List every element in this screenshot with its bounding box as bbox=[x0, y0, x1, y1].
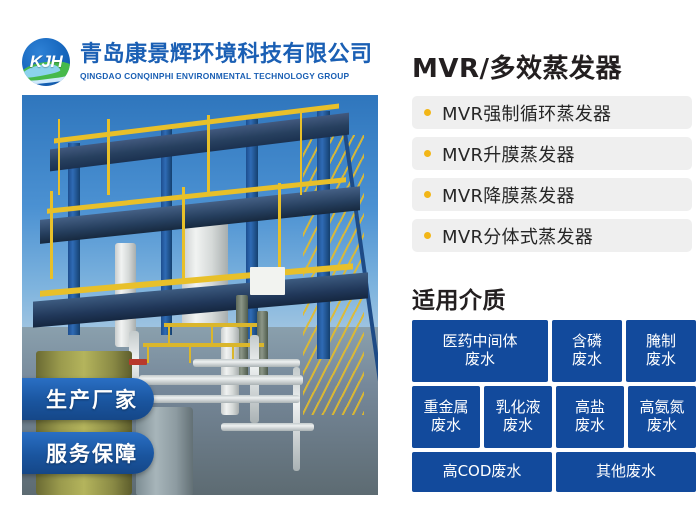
badge-service: 服务保障 bbox=[22, 432, 154, 474]
photo-railing bbox=[143, 343, 264, 347]
bullet-icon bbox=[424, 109, 431, 116]
badge-manufacturer: 生产厂家 bbox=[22, 378, 154, 420]
photo-pipe bbox=[221, 423, 314, 431]
feature-label: MVR强制循环蒸发器 bbox=[442, 100, 611, 126]
feature-item[interactable]: MVR降膜蒸发器 bbox=[412, 178, 692, 211]
company-name-en: QINGDAO CONQINPHI ENVIRONMENTAL TECHNOLO… bbox=[80, 71, 373, 81]
media-cell[interactable]: 医药中间体废水 bbox=[412, 320, 548, 382]
bullet-icon bbox=[424, 232, 431, 239]
feature-item[interactable]: MVR升膜蒸发器 bbox=[412, 137, 692, 170]
photo-rail-post bbox=[278, 183, 280, 279]
badge-service-label: 服务保障 bbox=[46, 438, 138, 468]
promo-banner: KJH 青岛康景辉环境科技有限公司 QINGDAO CONQINPHI ENVI… bbox=[0, 0, 700, 520]
media-row: 高COD废水 其他废水 bbox=[412, 452, 696, 492]
feature-item[interactable]: MVR强制循环蒸发器 bbox=[412, 96, 692, 129]
photo-red-marker bbox=[129, 359, 147, 365]
photo-rail-post bbox=[207, 115, 209, 195]
product-title: MVR/多效蒸发器 bbox=[412, 48, 622, 85]
media-cell[interactable]: 腌制废水 bbox=[626, 320, 696, 382]
feature-label: MVR降膜蒸发器 bbox=[442, 182, 575, 208]
photo-rail-post bbox=[107, 119, 109, 195]
photo-rail-post bbox=[300, 111, 302, 195]
media-cell[interactable]: 含磷废水 bbox=[552, 320, 622, 382]
right-column: MVR/多效蒸发器 MVR强制循环蒸发器 MVR升膜蒸发器 MVR降膜蒸发器 M… bbox=[404, 0, 700, 520]
bullet-icon bbox=[424, 150, 431, 157]
company-brand: KJH 青岛康景辉环境科技有限公司 QINGDAO CONQINPHI ENVI… bbox=[22, 36, 382, 88]
media-cell[interactable]: 乳化液废水 bbox=[484, 386, 552, 448]
media-cell[interactable]: 高盐废水 bbox=[556, 386, 624, 448]
logo-monogram: KJH bbox=[22, 38, 70, 86]
applicable-media-grid: 医药中间体废水 含磷废水 腌制废水 重金属废水 乳化液废水 高盐废水 高氨氮废水… bbox=[412, 320, 696, 496]
media-cell[interactable]: 高氨氮废水 bbox=[628, 386, 696, 448]
photo-signboard bbox=[250, 267, 286, 295]
feature-item[interactable]: MVR分体式蒸发器 bbox=[412, 219, 692, 252]
media-row: 医药中间体废水 含磷废水 腌制废水 bbox=[412, 320, 696, 382]
media-cell[interactable]: 其他废水 bbox=[556, 452, 696, 492]
product-feature-list: MVR强制循环蒸发器 MVR升膜蒸发器 MVR降膜蒸发器 MVR分体式蒸发器 bbox=[412, 96, 692, 260]
photo-rail-post bbox=[50, 191, 52, 279]
photo-pipe bbox=[193, 359, 300, 367]
media-row: 重金属废水 乳化液废水 高盐废水 高氨氮废水 bbox=[412, 386, 696, 448]
product-photo: 生产厂家 服务保障 bbox=[22, 95, 378, 495]
photo-rail-post bbox=[168, 323, 170, 343]
photo-rail-post bbox=[182, 187, 184, 279]
photo-rail-post bbox=[211, 323, 213, 343]
photo-rail-post bbox=[58, 119, 60, 195]
feature-label: MVR分体式蒸发器 bbox=[442, 223, 593, 249]
photo-pipe bbox=[139, 375, 303, 385]
badge-manufacturer-label: 生产厂家 bbox=[46, 384, 138, 414]
bullet-icon bbox=[424, 191, 431, 198]
company-name-cn: 青岛康景辉环境科技有限公司 bbox=[80, 43, 373, 68]
media-cell[interactable]: 重金属废水 bbox=[412, 386, 480, 448]
left-column: KJH 青岛康景辉环境科技有限公司 QINGDAO CONQINPHI ENVI… bbox=[0, 0, 396, 520]
feature-label: MVR升膜蒸发器 bbox=[442, 141, 575, 167]
media-cell[interactable]: 高COD废水 bbox=[412, 452, 552, 492]
company-logo-icon: KJH bbox=[22, 38, 70, 86]
photo-pipe bbox=[150, 395, 300, 403]
media-section-title: 适用介质 bbox=[412, 281, 506, 315]
photo-rail-post bbox=[147, 343, 149, 363]
photo-rail-post bbox=[189, 343, 191, 363]
brand-text: 青岛康景辉环境科技有限公司 QINGDAO CONQINPHI ENVIRONM… bbox=[80, 43, 373, 81]
photo-column bbox=[317, 111, 330, 359]
